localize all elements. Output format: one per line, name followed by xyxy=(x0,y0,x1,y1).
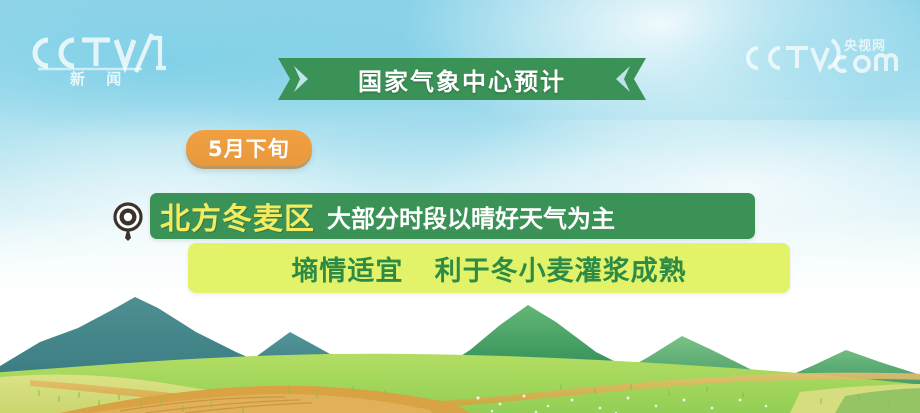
cctv13-logo-watermark: 新 闻 xyxy=(24,28,174,90)
svg-text:央视网: 央视网 xyxy=(844,38,886,54)
forecast-line1-text: 大部分时段以晴好天气为主 xyxy=(327,199,615,234)
location-pin-icon xyxy=(110,200,146,242)
date-badge: 5月下旬 xyxy=(186,130,312,166)
forecast-line1-box: 北方冬麦区 大部分时段以晴好天气为主 xyxy=(150,193,755,239)
landscape-illustration xyxy=(0,280,920,413)
svg-text:新 闻: 新 闻 xyxy=(70,70,129,86)
header-banner: 国家气象中心预计 xyxy=(278,58,646,100)
header-title: 国家气象中心预计 xyxy=(278,58,646,100)
broadcast-frame: 新 闻 央视网 国家气象中心预计 xyxy=(0,0,920,413)
forecast-line2-box: 墒情适宜 利于冬小麦灌浆成熟 xyxy=(188,243,790,293)
forecast-line2-text: 墒情适宜 利于冬小麦灌浆成熟 xyxy=(291,249,686,288)
date-badge-label: 5月下旬 xyxy=(208,133,290,163)
cctv-com-watermark: 央视网 xyxy=(740,34,906,84)
forecast-region-label: 北方冬麦区 xyxy=(160,194,315,238)
